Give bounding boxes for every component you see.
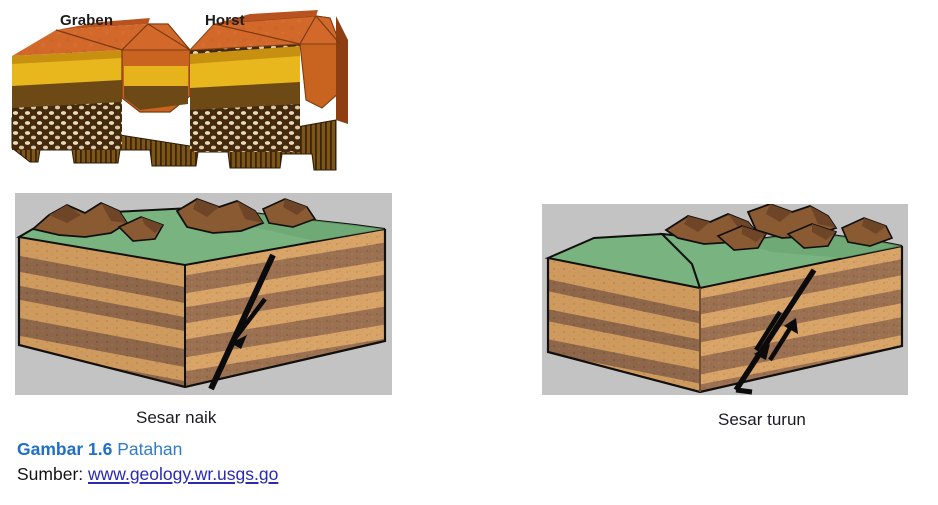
normal-fault-panel bbox=[542, 204, 908, 395]
reverse-fault-panel bbox=[15, 193, 392, 395]
reverse-fault-caption: Sesar naik bbox=[136, 408, 216, 428]
graben-label: Graben bbox=[60, 12, 113, 29]
figure-caption-title-line: Gambar 1.6 Patahan bbox=[17, 437, 278, 462]
reverse-fault-svg bbox=[15, 193, 392, 395]
left-front-conglomerate bbox=[12, 100, 122, 150]
source-url-link[interactable]: www.geology.wr.usgs.go bbox=[88, 464, 278, 484]
fault-plane-base bbox=[736, 390, 752, 392]
horst-graben-block bbox=[12, 10, 348, 170]
figure-title: Patahan bbox=[117, 439, 182, 459]
horst-graben-figure: Graben Horst bbox=[0, 0, 350, 190]
source-label: Sumber: bbox=[17, 464, 83, 484]
figure-caption: Gambar 1.6 Patahan Sumber: www.geology.w… bbox=[17, 437, 278, 487]
normal-fault-svg bbox=[542, 204, 908, 395]
reverse-fault-block bbox=[15, 199, 392, 395]
normal-fault-caption: Sesar turun bbox=[718, 410, 806, 430]
normal-fault-block bbox=[542, 204, 908, 395]
figure-number: Gambar 1.6 bbox=[17, 439, 112, 459]
graben-gold-band bbox=[124, 66, 188, 86]
figure-source-line: Sumber: www.geology.wr.usgs.go bbox=[17, 462, 278, 487]
horst-graben-svg bbox=[0, 0, 350, 190]
horst-label: Horst bbox=[205, 12, 245, 29]
right-side-face bbox=[336, 16, 348, 124]
